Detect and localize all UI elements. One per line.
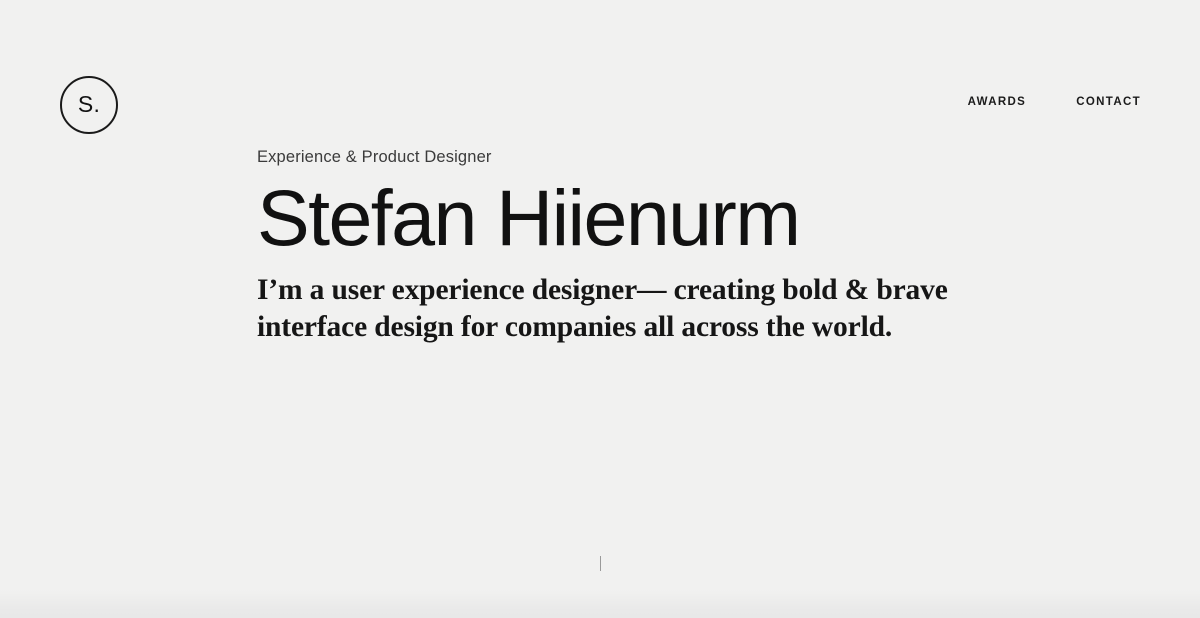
- nav-link-awards[interactable]: AWARDS: [968, 96, 1027, 108]
- page-root: S. AWARDS CONTACT Experience & Product D…: [0, 0, 1200, 618]
- main-nav: AWARDS CONTACT: [968, 96, 1141, 108]
- logo-mark[interactable]: S.: [60, 76, 118, 134]
- hero-section: Experience & Product Designer Stefan Hii…: [257, 148, 1140, 345]
- bottom-fold-gradient: [0, 590, 1200, 618]
- nav-link-contact[interactable]: CONTACT: [1076, 96, 1141, 108]
- hero-eyebrow: Experience & Product Designer: [257, 148, 1140, 168]
- logo-monogram-text: S.: [78, 93, 100, 116]
- scroll-down-indicator[interactable]: [600, 556, 601, 571]
- hero-description: I’m a user experience designer— creating…: [257, 272, 957, 345]
- page-title: Stefan Hiienurm: [257, 177, 1140, 259]
